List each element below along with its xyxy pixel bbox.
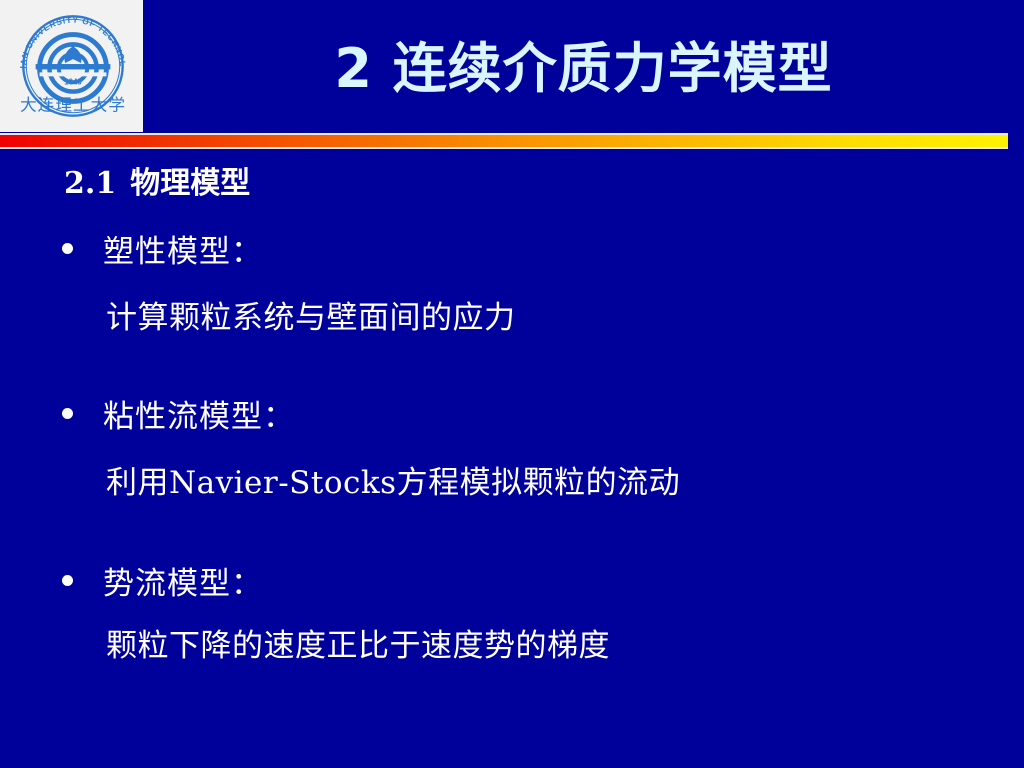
svg-text:大连理工大学: 大连理工大学 — [20, 94, 126, 114]
section-heading: 2.1物理模型 — [64, 158, 250, 202]
bullet-label: 塑性模型： — [103, 226, 263, 271]
slide-body: 2.1物理模型 塑性模型： 计算颗粒系统与壁面间的应力 粘性流模型： 利用Nav… — [0, 152, 1024, 768]
detail-prefix: 利用 — [106, 465, 169, 501]
presentation-slide: DALIAN UNIVERSITY OF TECHNOLOGY 1949 大连理… — [0, 0, 1024, 768]
bullet-dot-icon — [62, 575, 73, 586]
section-title: 物理模型 — [130, 166, 250, 201]
slide-header: DALIAN UNIVERSITY OF TECHNOLOGY 1949 大连理… — [0, 0, 1024, 132]
university-logo-icon: DALIAN UNIVERSITY OF TECHNOLOGY 1949 大连理… — [14, 6, 132, 126]
bullet-detail-viscous-flow-model: 利用Navier-Stocks方程模拟颗粒的流动 — [106, 457, 680, 502]
bullet-label: 势流模型： — [103, 558, 263, 603]
bullet-dot-icon — [62, 408, 73, 419]
logo-panel: DALIAN UNIVERSITY OF TECHNOLOGY 1949 大连理… — [0, 0, 143, 132]
svg-text:1949: 1949 — [64, 78, 82, 87]
bullet-label: 粘性流模型： — [103, 391, 295, 436]
bullet-item-viscous-flow-model: 粘性流模型： — [62, 391, 295, 436]
bullet-detail-plastic-model: 计算颗粒系统与壁面间的应力 — [106, 292, 516, 337]
bullet-item-plastic-model: 塑性模型： — [62, 226, 263, 271]
bullet-dot-icon — [62, 243, 73, 254]
bullet-detail-potential-flow-model: 颗粒下降的速度正比于速度势的梯度 — [106, 620, 610, 665]
detail-suffix: 方程模拟颗粒的流动 — [397, 465, 681, 501]
page-title: 2 连续介质力学模型 — [143, 0, 1024, 132]
divider-gradient-bar — [0, 133, 1008, 149]
detail-latin-term: Navier-Stocks — [169, 465, 397, 501]
bullet-item-potential-flow-model: 势流模型： — [62, 558, 263, 603]
section-number: 2.1 — [64, 166, 116, 201]
